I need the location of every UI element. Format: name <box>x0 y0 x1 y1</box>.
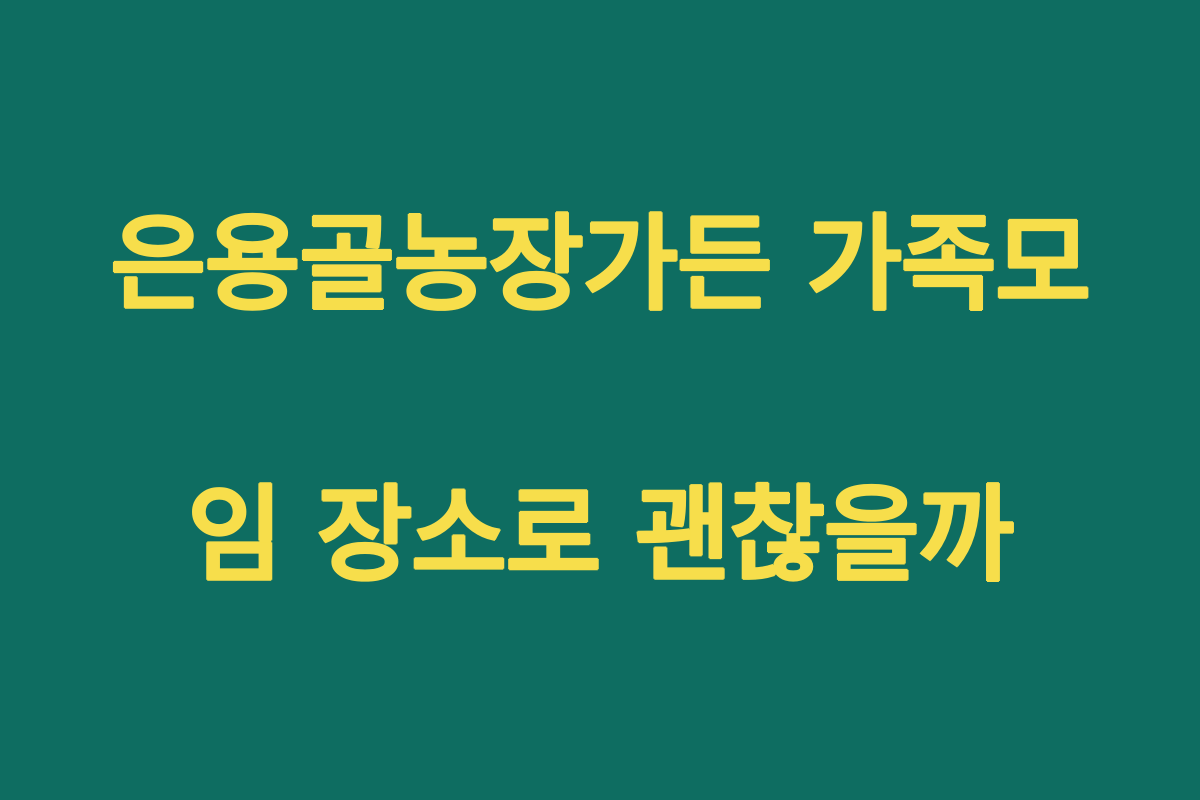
page-title: 은용골농장가든 가족모 임 장소로 괜찮을까 <box>70 62 1130 738</box>
headline-line-2: 임 장소로 괜찮을까 <box>70 468 1130 603</box>
title-card-banner: 은용골농장가든 가족모 임 장소로 괜찮을까 <box>0 0 1200 800</box>
headline-line-1: 은용골농장가든 가족모 <box>70 197 1130 332</box>
